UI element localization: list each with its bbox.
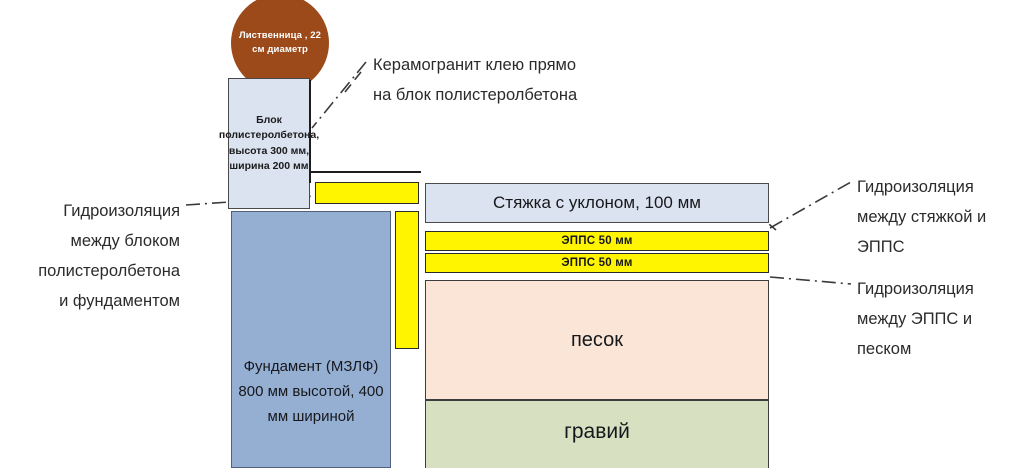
wall-edge-vertical [309, 80, 311, 183]
xps-upper-label: ЭППС 50 мм [561, 235, 632, 247]
foundation-label: Фундамент (МЗЛФ) 800 мм высотой, 400 мм … [232, 354, 390, 467]
sand-label: песок [571, 329, 623, 352]
xps-lower-label: ЭППС 50 мм [561, 257, 632, 269]
screed-label: Стяжка с уклоном, 100 мм [493, 193, 701, 213]
callout-wp-screed-xps-line-3: ЭППС [857, 232, 1016, 262]
polystyrene-block-label: Блок полистеролбетона, высота 300 мм, ши… [217, 113, 321, 175]
xps-layer-lower: ЭППС 50 мм [425, 253, 769, 273]
callout-wp-xps-sand-line-1: Гидроизоляция [857, 274, 1016, 304]
larch-log-label: Лиственница , 22 см диаметр [231, 29, 329, 57]
callout-wp-block-foundation-line-3: полистеролбетона [4, 256, 180, 286]
callout-wp-screed-xps-line-2: между стяжкой и [857, 202, 1016, 232]
callout-wp-block-foundation-line-2: между блоком [4, 226, 180, 256]
leader-ceramic-granite-tick [345, 72, 361, 92]
diagram-canvas: Лиственница , 22 см диаметр Блок полисте… [0, 0, 1016, 468]
callout-wp-block-foundation-line-1: Гидроизоляция [4, 196, 180, 226]
foundation-block: Фундамент (МЗЛФ) 800 мм высотой, 400 мм … [231, 211, 391, 468]
callout-ceramic-granite-line-1: Керамогранит клею прямо [373, 50, 663, 80]
screed-layer: Стяжка с уклоном, 100 мм [425, 183, 769, 223]
callout-wp-block-foundation-line-4: и фундаментом [4, 286, 180, 316]
callout-wp-xps-sand: Гидроизоляция между ЭППС и песком [857, 274, 1016, 364]
wall-edge-horizontal [309, 171, 421, 173]
leader-wp-screed-xps [770, 182, 851, 228]
gravel-layer: гравий [425, 400, 769, 468]
waterproofing-vertical-strip [395, 211, 419, 349]
sand-layer: песок [425, 280, 769, 400]
xps-layer-upper: ЭППС 50 мм [425, 231, 769, 251]
callout-ceramic-granite: Керамогранит клею прямо на блок полистер… [373, 50, 663, 110]
callout-wp-block-foundation: Гидроизоляция между блоком полистеролбет… [4, 196, 180, 316]
gravel-label: гравий [564, 420, 630, 450]
callout-wp-screed-xps: Гидроизоляция между стяжкой и ЭППС [857, 172, 1016, 262]
callout-wp-xps-sand-line-3: песком [857, 334, 1016, 364]
callout-ceramic-granite-line-2: на блок полистеролбетона [373, 80, 663, 110]
leader-wp-xps-sand [770, 277, 851, 284]
waterproofing-horizontal-strip [315, 182, 419, 204]
polystyrene-block: Блок полистеролбетона, высота 300 мм, ши… [228, 78, 310, 209]
callout-wp-xps-sand-line-2: между ЭППС и [857, 304, 1016, 334]
callout-wp-screed-xps-line-1: Гидроизоляция [857, 172, 1016, 202]
